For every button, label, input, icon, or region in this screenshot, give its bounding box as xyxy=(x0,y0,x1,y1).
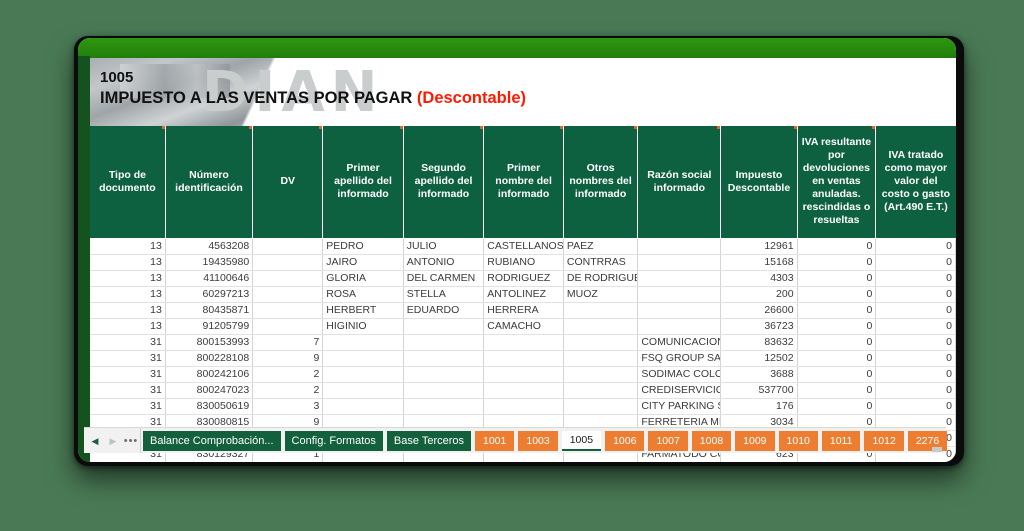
report-banner: DIAN 1005 IMPUESTO A LAS VENTAS POR PAGA… xyxy=(90,58,956,126)
table-cell[interactable]: 0 xyxy=(876,286,956,302)
table-cell[interactable]: 0 xyxy=(797,366,876,382)
table-cell[interactable]: 0 xyxy=(797,302,876,318)
tab-scrollbar[interactable] xyxy=(932,447,942,452)
table-row[interactable]: 318002470232CREDISERVICIOS53770000 xyxy=(90,382,956,398)
table-cell[interactable]: 31 xyxy=(90,350,165,366)
table-cell[interactable] xyxy=(403,334,483,350)
table-cell[interactable]: CASTELLANOS xyxy=(484,238,564,254)
table-cell[interactable]: 13 xyxy=(90,238,165,254)
table-cell[interactable]: 13 xyxy=(90,254,165,270)
table-cell[interactable]: DE RODRIGUEZ xyxy=(563,270,637,286)
table-cell[interactable]: 0 xyxy=(876,382,956,398)
table-cell[interactable]: DEL CARMEN xyxy=(403,270,483,286)
table-cell[interactable]: 19435980 xyxy=(165,254,252,270)
table-cell[interactable] xyxy=(253,302,323,318)
table-cell[interactable] xyxy=(638,286,721,302)
sheet-tabs[interactable]: Balance Comprobación...Config. FormatosB… xyxy=(141,431,949,451)
table-cell[interactable]: 176 xyxy=(721,398,797,414)
table-row[interactable]: 318300506193CITY PARKING SA17600 xyxy=(90,398,956,414)
table-cell[interactable]: 3688 xyxy=(721,366,797,382)
table-cell[interactable] xyxy=(484,382,564,398)
table-cell[interactable]: ANTONIO xyxy=(403,254,483,270)
window-left-spine xyxy=(78,56,90,462)
sheet-tab-1007[interactable]: 1007 xyxy=(648,431,687,451)
table-cell[interactable] xyxy=(403,366,483,382)
sheet-nav-buttons[interactable]: ◀ ▶ ••• xyxy=(86,428,141,453)
table-row[interactable]: 318002421062SODIMAC COLON368800 xyxy=(90,366,956,382)
table-row[interactable]: 1360297213ROSASTELLAANTOLINEZMUOZ20000 xyxy=(90,286,956,302)
table-cell[interactable]: FSQ GROUP SAS xyxy=(638,350,721,366)
table-cell[interactable] xyxy=(563,398,637,414)
window-titlebar xyxy=(78,38,956,60)
table-cell[interactable]: 31 xyxy=(90,398,165,414)
table-cell[interactable]: 0 xyxy=(797,350,876,366)
table-cell[interactable]: 31 xyxy=(90,382,165,398)
column-header[interactable]: Razón social informado xyxy=(638,126,721,238)
table-cell[interactable]: 0 xyxy=(876,366,956,382)
table-cell[interactable] xyxy=(323,382,403,398)
table-cell[interactable] xyxy=(638,318,721,334)
table-row[interactable]: 1319435980JAIROANTONIORUBIANOCONTRRAS151… xyxy=(90,254,956,270)
table-cell[interactable]: 4303 xyxy=(721,270,797,286)
table-cell[interactable]: 13 xyxy=(90,270,165,286)
table-cell[interactable] xyxy=(563,350,637,366)
table-cell[interactable] xyxy=(563,318,637,334)
sheet-tab-1010[interactable]: 1010 xyxy=(779,431,818,451)
table-cell[interactable]: 13 xyxy=(90,302,165,318)
table-cell[interactable]: 9 xyxy=(253,350,323,366)
column-header[interactable]: Número identificación xyxy=(165,126,252,238)
table-cell[interactable] xyxy=(638,302,721,318)
table-cell[interactable]: GLORIA xyxy=(323,270,403,286)
report-code: 1005 xyxy=(100,68,956,87)
report-title-suffix: (Descontable) xyxy=(417,89,526,107)
nav-next-sheet-icon[interactable]: ▶ xyxy=(104,428,122,454)
table-cell[interactable]: 0 xyxy=(797,398,876,414)
worksheet-area[interactable]: DIAN 1005 IMPUESTO A LAS VENTAS POR PAGA… xyxy=(90,58,956,462)
table-cell[interactable]: CONTRRAS xyxy=(563,254,637,270)
table-cell[interactable]: 15168 xyxy=(721,254,797,270)
spreadsheet-window: DIAN 1005 IMPUESTO A LAS VENTAS POR PAGA… xyxy=(78,38,956,462)
table-cell[interactable] xyxy=(638,254,721,270)
table-header-row: Tipo de documentoNúmero identificaciónDV… xyxy=(90,126,956,238)
table-cell[interactable]: 800242106 xyxy=(165,366,252,382)
table-cell[interactable] xyxy=(563,302,637,318)
table-cell[interactable]: JULIO xyxy=(403,238,483,254)
table-row[interactable]: 318002281089FSQ GROUP SAS1250200 xyxy=(90,350,956,366)
table-cell[interactable]: MUOZ xyxy=(563,286,637,302)
table-cell[interactable]: 0 xyxy=(797,254,876,270)
table-cell[interactable]: 537700 xyxy=(721,382,797,398)
table-cell[interactable]: 4563208 xyxy=(165,238,252,254)
table-cell[interactable]: HIGINIO xyxy=(323,318,403,334)
sheet-tab-1006[interactable]: 1006 xyxy=(605,431,644,451)
table-cell[interactable]: 0 xyxy=(876,334,956,350)
table-cell[interactable]: SODIMAC COLON xyxy=(638,366,721,382)
data-table[interactable]: Tipo de documentoNúmero identificaciónDV… xyxy=(90,126,956,462)
table-cell[interactable] xyxy=(323,366,403,382)
table-cell[interactable]: 60297213 xyxy=(165,286,252,302)
table-cell[interactable]: 0 xyxy=(876,254,956,270)
table-cell[interactable]: ROSA xyxy=(323,286,403,302)
table-cell[interactable] xyxy=(638,238,721,254)
column-header[interactable]: Impuesto Descontable xyxy=(721,126,797,238)
table-cell[interactable] xyxy=(484,398,564,414)
table-cell[interactable]: PAEZ xyxy=(563,238,637,254)
table-cell[interactable]: RUBIANO xyxy=(484,254,564,270)
column-header[interactable]: DV xyxy=(253,126,323,238)
table-cell[interactable]: PEDRO xyxy=(323,238,403,254)
table-cell[interactable]: 3 xyxy=(253,398,323,414)
table-cell[interactable] xyxy=(253,270,323,286)
table-row[interactable]: 134563208PEDROJULIOCASTELLANOSPAEZ129610… xyxy=(90,238,956,254)
table-cell[interactable]: EDUARDO xyxy=(403,302,483,318)
table-cell[interactable]: ANTOLINEZ xyxy=(484,286,564,302)
table-cell[interactable] xyxy=(253,286,323,302)
table-cell[interactable]: CREDISERVICIOS xyxy=(638,382,721,398)
column-header[interactable]: Otros nombres del informado xyxy=(563,126,637,238)
table-cell[interactable]: 13 xyxy=(90,286,165,302)
table-cell[interactable]: 800153993 xyxy=(165,334,252,350)
table-cell[interactable]: 0 xyxy=(876,238,956,254)
table-row[interactable]: 1391205799HIGINIOCAMACHO3672300 xyxy=(90,318,956,334)
table-cell[interactable]: 0 xyxy=(797,334,876,350)
table-cell[interactable]: 83632 xyxy=(721,334,797,350)
report-title: IMPUESTO A LAS VENTAS POR PAGAR (Descont… xyxy=(100,87,956,109)
table-cell[interactable]: CAMACHO xyxy=(484,318,564,334)
sheet-tab-1011[interactable]: 1011 xyxy=(822,431,861,451)
sheet-tab-1012[interactable]: 1012 xyxy=(864,431,903,451)
sheet-tab-1008[interactable]: 1008 xyxy=(692,431,731,451)
table-cell[interactable]: 80435871 xyxy=(165,302,252,318)
nav-more-sheets-icon[interactable]: ••• xyxy=(122,428,140,454)
table-cell[interactable]: 31 xyxy=(90,334,165,350)
sheet-tab-base-terceros[interactable]: Base Terceros xyxy=(387,431,471,451)
table-cell[interactable] xyxy=(403,318,483,334)
table-cell[interactable] xyxy=(563,366,637,382)
table-cell[interactable] xyxy=(253,238,323,254)
column-header[interactable]: Segundo apellido del informado xyxy=(403,126,483,238)
table-cell[interactable] xyxy=(563,382,637,398)
table-cell[interactable]: 0 xyxy=(797,270,876,286)
table-cell[interactable]: 0 xyxy=(797,238,876,254)
column-header[interactable]: Tipo de documento xyxy=(90,126,165,238)
table-cell[interactable] xyxy=(403,350,483,366)
column-header[interactable]: IVA tratado como mayor valor del costo o… xyxy=(876,126,956,238)
table-cell[interactable]: 2 xyxy=(253,382,323,398)
table-cell[interactable]: 0 xyxy=(876,270,956,286)
table-cell[interactable]: 0 xyxy=(797,286,876,302)
banner-titles: 1005 IMPUESTO A LAS VENTAS POR PAGAR (De… xyxy=(90,58,956,109)
table-cell[interactable] xyxy=(484,334,564,350)
table-cell[interactable]: 0 xyxy=(797,318,876,334)
column-header[interactable]: Primer apellido del informado xyxy=(323,126,403,238)
column-header[interactable]: Primer nombre del informado xyxy=(484,126,564,238)
table-cell[interactable]: RODRIGUEZ xyxy=(484,270,564,286)
table-cell[interactable]: 26600 xyxy=(721,302,797,318)
table-row[interactable]: 318001539937COMUNICACION8363200 xyxy=(90,334,956,350)
table-cell[interactable]: 0 xyxy=(876,318,956,334)
table-cell[interactable] xyxy=(638,270,721,286)
sheet-tab-bar[interactable]: ◀ ▶ ••• Balance Comprobación...Config. F… xyxy=(84,427,946,453)
nav-first-sheet-icon[interactable]: ◀ xyxy=(86,428,104,454)
table-cell[interactable]: 12961 xyxy=(721,238,797,254)
table-cell[interactable]: 36723 xyxy=(721,318,797,334)
table-cell[interactable] xyxy=(323,350,403,366)
table-cell[interactable] xyxy=(403,398,483,414)
table-cell[interactable]: 830050619 xyxy=(165,398,252,414)
table-cell[interactable]: 200 xyxy=(721,286,797,302)
table-cell[interactable]: 7 xyxy=(253,334,323,350)
table-cell[interactable]: 0 xyxy=(876,350,956,366)
table-cell[interactable]: 13 xyxy=(90,318,165,334)
table-cell[interactable] xyxy=(323,398,403,414)
column-header[interactable]: IVA resultante por devoluciones en venta… xyxy=(797,126,876,238)
table-cell[interactable]: 2 xyxy=(253,366,323,382)
sheet-tab-1005[interactable]: 1005 xyxy=(562,431,601,451)
table-cell[interactable] xyxy=(253,254,323,270)
table-cell[interactable]: 0 xyxy=(876,302,956,318)
table-cell[interactable]: 41100646 xyxy=(165,270,252,286)
sheet-tab-1003[interactable]: 1003 xyxy=(518,431,557,451)
table-cell[interactable]: JAIRO xyxy=(323,254,403,270)
table-cell[interactable] xyxy=(323,334,403,350)
table-cell[interactable] xyxy=(563,334,637,350)
table-cell[interactable]: HERRERA xyxy=(484,302,564,318)
table-cell[interactable]: CITY PARKING SA xyxy=(638,398,721,414)
sheet-tab-balance-comprobaci-n[interactable]: Balance Comprobación... xyxy=(143,431,281,451)
table-cell[interactable] xyxy=(484,366,564,382)
sheet-tab-1001[interactable]: 1001 xyxy=(475,431,514,451)
table-cell[interactable]: 91205799 xyxy=(165,318,252,334)
table-cell[interactable]: 31 xyxy=(90,366,165,382)
table-cell[interactable]: 0 xyxy=(797,382,876,398)
table-cell[interactable]: 800228108 xyxy=(165,350,252,366)
table-cell[interactable]: 0 xyxy=(876,398,956,414)
table-cell[interactable]: STELLA xyxy=(403,286,483,302)
sheet-tab-1009[interactable]: 1009 xyxy=(735,431,774,451)
table-cell[interactable] xyxy=(253,318,323,334)
table-cell[interactable]: 800247023 xyxy=(165,382,252,398)
table-row[interactable]: 1341100646GLORIADEL CARMENRODRIGUEZDE RO… xyxy=(90,270,956,286)
report-title-main: IMPUESTO A LAS VENTAS POR PAGAR xyxy=(100,89,412,107)
table-cell[interactable] xyxy=(403,382,483,398)
table-row[interactable]: 1380435871HERBERTEDUARDOHERRERA2660000 xyxy=(90,302,956,318)
table-cell[interactable]: COMUNICACION xyxy=(638,334,721,350)
table-cell[interactable]: 12502 xyxy=(721,350,797,366)
sheet-tab-config-formatos[interactable]: Config. Formatos xyxy=(285,431,383,451)
table-cell[interactable]: HERBERT xyxy=(323,302,403,318)
table-cell[interactable] xyxy=(484,350,564,366)
